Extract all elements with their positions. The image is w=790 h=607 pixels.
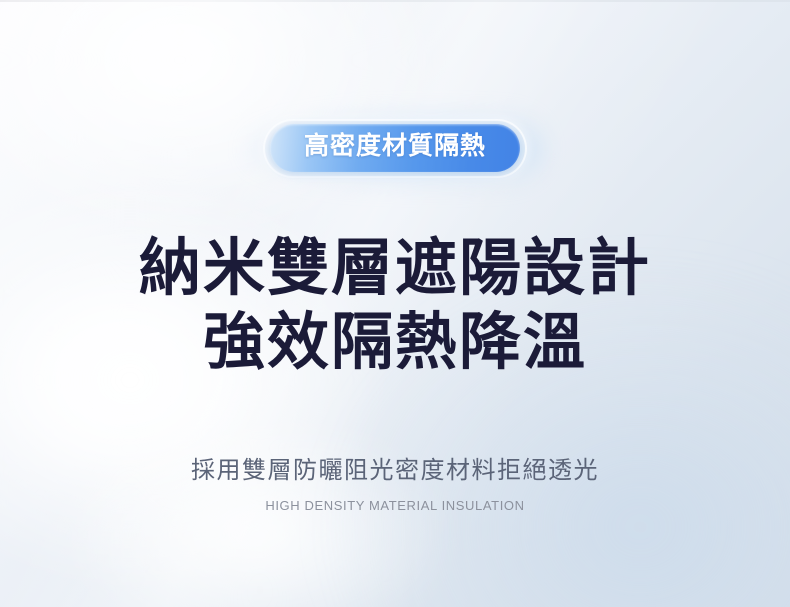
promo-banner: 高密度材質隔熱 納米雙層遮陽設計 強效隔熱降溫 採用雙層防曬阻光密度材料拒絕透光… (0, 0, 790, 607)
subtitle-english: HIGH DENSITY MATERIAL INSULATION (265, 498, 524, 513)
badge-pill: 高密度材質隔熱 (270, 124, 520, 172)
headline-line-2: 強效隔熱降溫 (139, 308, 651, 378)
headline-line-1: 納米雙層遮陽設計 (139, 234, 651, 304)
headline-block: 納米雙層遮陽設計 強效隔熱降溫 (139, 234, 651, 378)
feature-badge: 高密度材質隔熱 (270, 124, 520, 172)
banner-content: 高密度材質隔熱 納米雙層遮陽設計 強效隔熱降溫 採用雙層防曬阻光密度材料拒絕透光… (0, 0, 790, 607)
badge-label: 高密度材質隔熱 (304, 133, 486, 161)
subtitle-chinese: 採用雙層防曬阻光密度材料拒絕透光 (191, 450, 599, 485)
